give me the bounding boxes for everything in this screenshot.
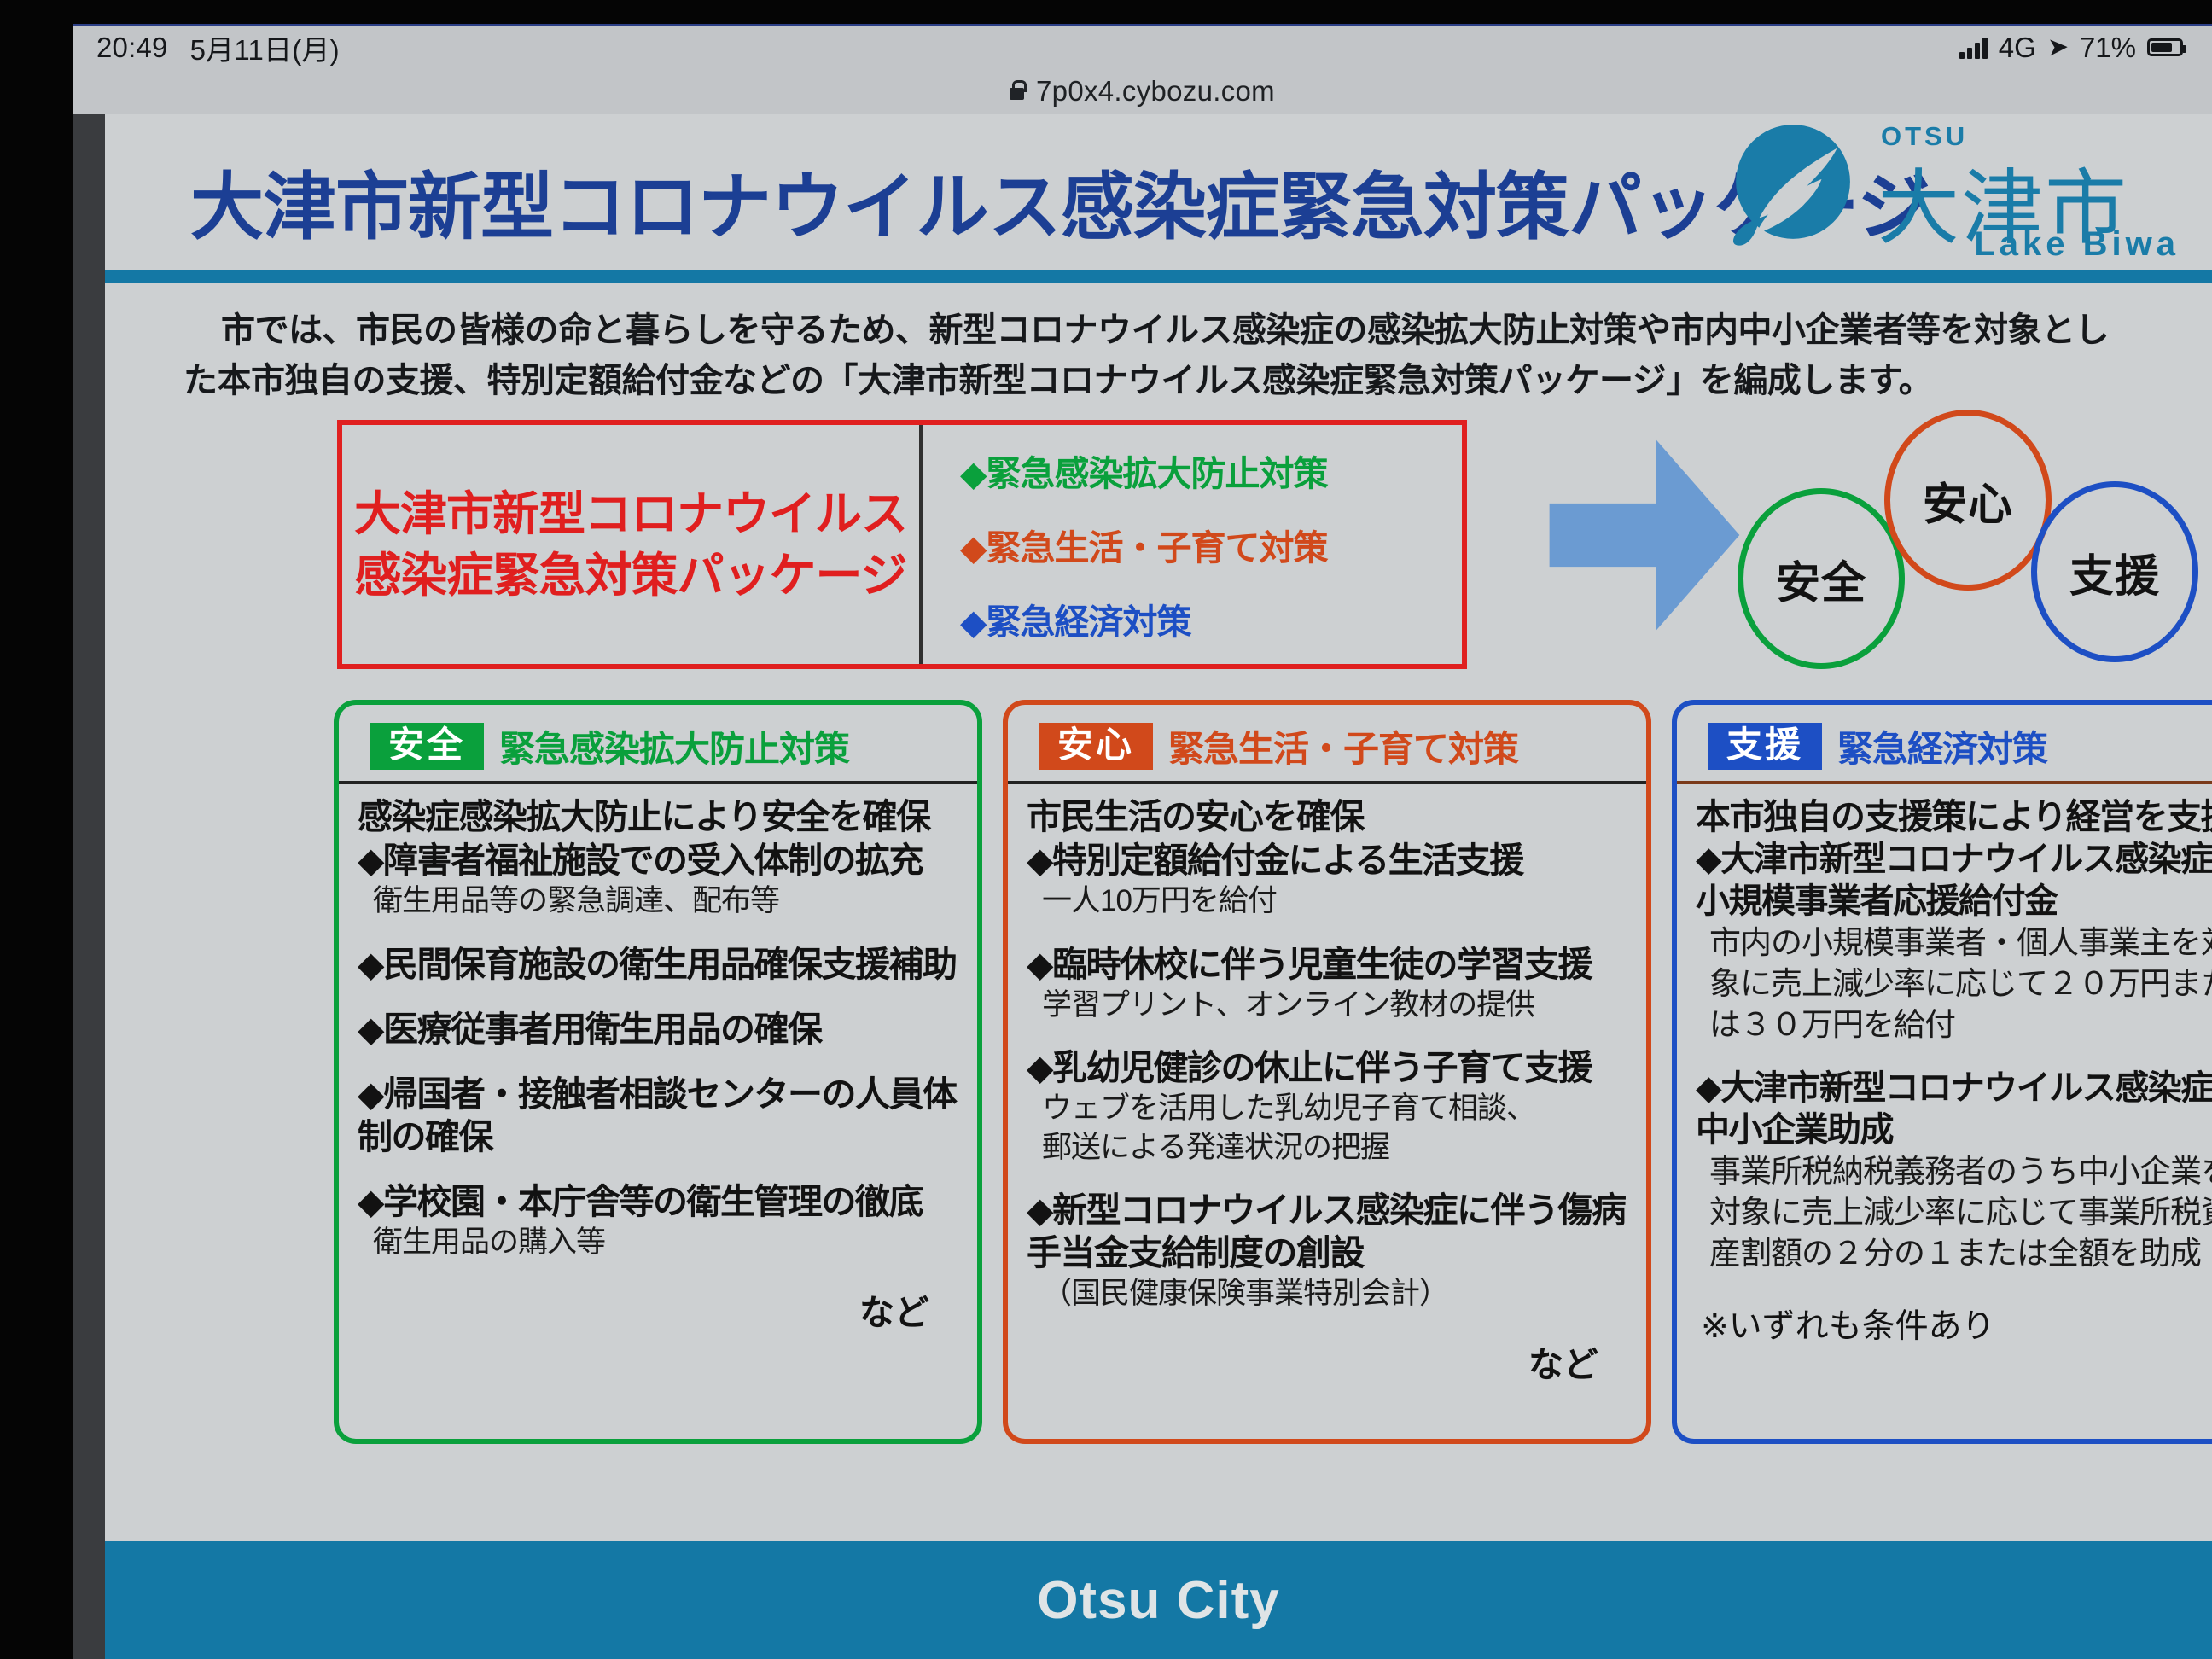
list-item-main: ◆学校園・本庁舎等の衛生管理の徹底	[358, 1180, 958, 1223]
status-badge: 支援	[1708, 723, 1822, 770]
package-item-0: ◆緊急感染拡大防止対策	[960, 445, 1462, 496]
logo-tagline: Lake Biwa	[1974, 225, 2180, 264]
poster-footer: Otsu City	[105, 1541, 2212, 1659]
package-item-1: ◆緊急生活・子育て対策	[960, 519, 1462, 570]
column-safety-footer-note: など	[358, 1284, 958, 1335]
column-safety-heading: 緊急感染拡大防止対策	[499, 720, 849, 772]
status-badge: 安心	[1039, 723, 1153, 770]
list-item-main: ◆大津市新型コロナウイルス感染症対策 中小企業助成	[1696, 1068, 2212, 1151]
poster-header: 大津市新型コロナウイルス感染症緊急対策パッケージ OTSU 大津市 Lake B…	[105, 114, 2212, 270]
list-item-main: ◆特別定額給付金による生活支援	[1027, 839, 1627, 882]
list-item: ◆学校園・本庁舎等の衛生管理の徹底 衛生用品の購入等	[358, 1180, 958, 1262]
battery-percent-label: 71%	[2080, 32, 2136, 64]
screenshot-root: 20:49 5月11日(月) 4G ➤ 71% 7p0x4.cybozu.com…	[0, 0, 2212, 1659]
column-support-lead: 本市独自の支援策により経営を支援	[1696, 798, 2212, 837]
circle-anzen-label: 安全	[1776, 547, 1866, 611]
package-name-line-1: 大津市新型コロナウイルス	[354, 483, 907, 545]
status-date: 5月11日(月)	[190, 27, 340, 68]
list-item-main: ◆医療従事者用衛生用品の確保	[358, 1008, 958, 1051]
list-item: ◆民間保育施設の衛生用品確保支援補助	[358, 943, 958, 986]
status-time: 20:49	[96, 32, 168, 64]
package-summary-box: 大津市新型コロナウイルス 感染症緊急対策パッケージ ◆緊急感染拡大防止対策 ◆緊…	[337, 420, 1467, 669]
list-item-sub: 事業所税納税義務者のうち中小企業を 対象に売上減少率に応じて事業所税資 産割額の…	[1696, 1151, 2212, 1274]
intro-paragraph: 市では、市民の皆様の命と暮らしを守るため、新型コロナウイルス感染症の感染拡大防止…	[183, 306, 2161, 406]
column-support-heading: 緊急経済対策	[1837, 720, 2047, 772]
network-type-label: 4G	[1999, 32, 2036, 64]
column-support: 支援 緊急経済対策 本市独自の支援策により経営を支援 ◆大津市新型コロナウイルス…	[1672, 700, 2212, 1444]
list-item-sub: 一人10万円を給付	[1027, 882, 1627, 921]
browser-url-bar[interactable]: 7p0x4.cybozu.com	[73, 68, 2212, 114]
column-relief: 安心 緊急生活・子育て対策 市民生活の安心を確保 ◆特別定額給付金による生活支援…	[1003, 700, 1651, 1444]
list-item-main: ◆大津市新型コロナウイルス感染症対策 小規模事業者応援給付金	[1696, 839, 2212, 923]
list-item: ◆乳幼児健診の休止に伴う子育て支援 ウェブを活用した乳幼児子育て相談、 郵送によ…	[1027, 1046, 1627, 1167]
column-relief-heading: 緊急生活・子育て対策	[1168, 720, 1518, 772]
list-item: ◆特別定額給付金による生活支援 一人10万円を給付	[1027, 839, 1627, 921]
page-title: 大津市新型コロナウイルス感染症緊急対策パッケージ	[190, 147, 1930, 253]
list-item: ◆大津市新型コロナウイルス感染症対策 小規模事業者応援給付金 市内の小規模事業者…	[1696, 839, 2212, 1045]
measures-columns: 安全 緊急感染拡大防止対策 感染症感染拡大防止により安全を確保 ◆障害者福祉施設…	[105, 700, 2212, 1468]
column-divider	[339, 781, 977, 784]
intro-line-1: 市では、市民の皆様の命と暮らしを守るため、新型コロナウイルス感染症の感染拡大防止…	[183, 306, 2161, 356]
status-bar-right: 4G ➤ 71%	[1959, 32, 2183, 64]
circle-shien-label: 支援	[2069, 540, 2160, 604]
package-item-list: ◆緊急感染拡大防止対策 ◆緊急生活・子育て対策 ◆緊急経済対策	[923, 425, 1462, 664]
right-arrow-icon	[1545, 435, 1743, 635]
list-item: ◆新型コロナウイルス感染症に伴う傷病 手当金支給制度の創設 （国民健康保険事業特…	[1027, 1189, 1627, 1313]
column-divider	[1677, 781, 2212, 784]
signal-bars-icon	[1959, 37, 1988, 59]
package-name-line-2: 感染症緊急対策パッケージ	[355, 544, 907, 607]
otsu-city-logo: OTSU 大津市 Lake Biwa	[1726, 116, 2186, 266]
tablet-screen: 20:49 5月11日(月) 4G ➤ 71% 7p0x4.cybozu.com…	[73, 24, 2212, 1659]
list-item-sub: 衛生用品の購入等	[358, 1223, 958, 1262]
list-item-sub: ウェブを活用した乳幼児子育て相談、 郵送による発達状況の把握	[1027, 1089, 1627, 1167]
column-relief-footer-note: など	[1027, 1336, 1627, 1387]
list-item-sub: 学習プリント、オンライン教材の提供	[1027, 986, 1627, 1025]
column-divider	[1008, 781, 1646, 784]
column-safety-header: 安全 緊急感染拡大防止対策	[358, 720, 958, 779]
battery-icon	[2147, 38, 2183, 56]
lock-icon	[1010, 88, 1024, 100]
column-safety: 安全 緊急感染拡大防止対策 感染症感染拡大防止により安全を確保 ◆障害者福祉施設…	[334, 700, 982, 1444]
list-item-sub: 市内の小規模事業者・個人事業主を対 象に売上減少率に応じて２０万円また は３０万…	[1696, 923, 2212, 1045]
summary-band: 大津市新型コロナウイルス 感染症緊急対策パッケージ ◆緊急感染拡大防止対策 ◆緊…	[105, 420, 2212, 686]
list-item-main: ◆障害者福祉施設での受入体制の拡充	[358, 839, 958, 882]
list-item-main: ◆乳幼児健診の休止に伴う子育て支援	[1027, 1046, 1627, 1089]
list-item: ◆帰国者・接触者相談センターの人員体 制の確保	[358, 1073, 958, 1158]
location-arrow-icon: ➤	[2046, 32, 2069, 63]
package-name: 大津市新型コロナウイルス 感染症緊急対策パッケージ	[342, 425, 923, 664]
poster-footer-label: Otsu City	[1037, 1570, 1280, 1631]
list-item: ◆大津市新型コロナウイルス感染症対策 中小企業助成 事業所税納税義務者のうち中小…	[1696, 1068, 2212, 1274]
column-safety-lead: 感染症感染拡大防止により安全を確保	[358, 798, 958, 837]
circle-shien: 支援	[2031, 481, 2198, 662]
package-item-2: ◆緊急経済対策	[960, 593, 1462, 644]
circle-anshin: 安心	[1884, 410, 2052, 591]
column-relief-lead: 市民生活の安心を確保	[1027, 798, 1627, 837]
intro-line-2: た本市独自の支援、特別定額給付金などの「大津市新型コロナウイルス感染症緊急対策パ…	[183, 356, 2161, 406]
list-item: ◆臨時休校に伴う児童生徒の学習支援 学習プリント、オンライン教材の提供	[1027, 943, 1627, 1025]
list-item-main: ◆臨時休校に伴う児童生徒の学習支援	[1027, 943, 1627, 986]
circle-anzen: 安全	[1738, 488, 1905, 669]
status-bar-left: 20:49 5月11日(月)	[96, 27, 340, 68]
column-support-header: 支援 緊急経済対策	[1696, 720, 2212, 779]
otsu-leaf-logo-icon	[1726, 119, 1855, 249]
list-item: ◆医療従事者用衛生用品の確保	[358, 1008, 958, 1051]
column-relief-header: 安心 緊急生活・子育て対策	[1027, 720, 1627, 779]
list-item-main: ◆民間保育施設の衛生用品確保支援補助	[358, 943, 958, 986]
column-support-footer-note: ※いずれも条件あり	[1696, 1300, 2212, 1348]
circle-anshin-label: 安心	[1923, 469, 2013, 533]
status-badge: 安全	[370, 723, 484, 770]
otsu-covid-package-poster: 大津市新型コロナウイルス感染症緊急対策パッケージ OTSU 大津市 Lake B…	[105, 114, 2212, 1659]
list-item: ◆障害者福祉施設での受入体制の拡充 衛生用品等の緊急調達、配布等	[358, 839, 958, 921]
list-item-sub: 衛生用品等の緊急調達、配布等	[358, 882, 958, 921]
list-item-main: ◆新型コロナウイルス感染症に伴う傷病 手当金支給制度の創設	[1027, 1189, 1627, 1274]
header-divider	[105, 270, 2212, 283]
url-text[interactable]: 7p0x4.cybozu.com	[1036, 75, 1275, 108]
list-item-main: ◆帰国者・接触者相談センターの人員体 制の確保	[358, 1073, 958, 1158]
list-item-sub: （国民健康保険事業特別会計）	[1027, 1274, 1627, 1313]
status-bar: 20:49 5月11日(月) 4G ➤ 71%	[73, 24, 2212, 68]
